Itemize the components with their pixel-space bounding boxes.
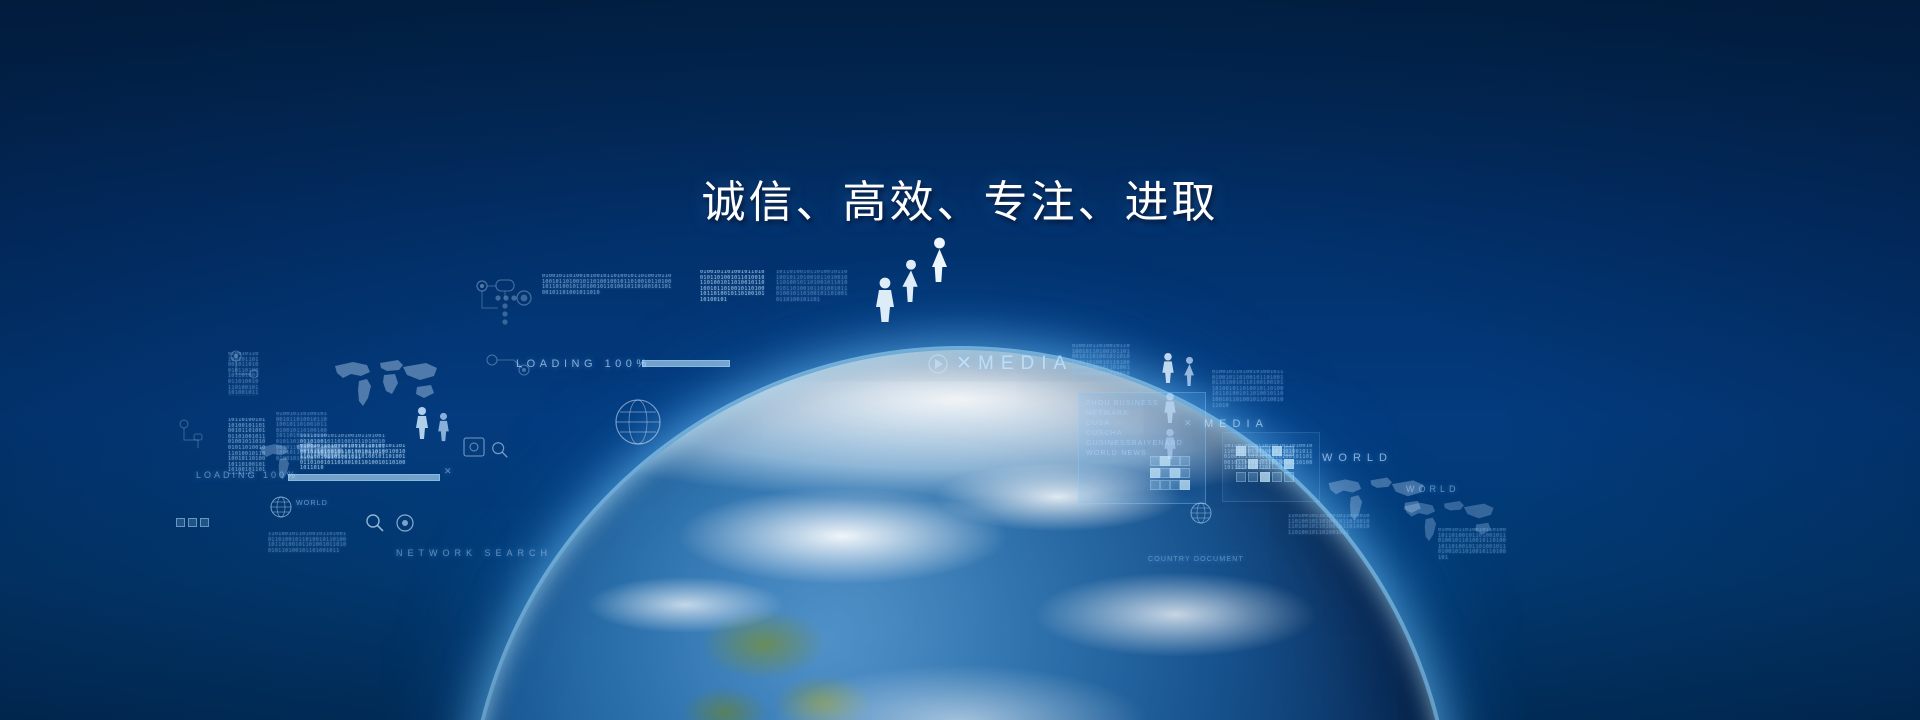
hero-banner: 0100101101001011010010110100101101001011…: [0, 0, 1920, 720]
earth-globe: [460, 340, 1460, 720]
page-title: 诚信、高效、专注、进取: [0, 166, 1920, 230]
